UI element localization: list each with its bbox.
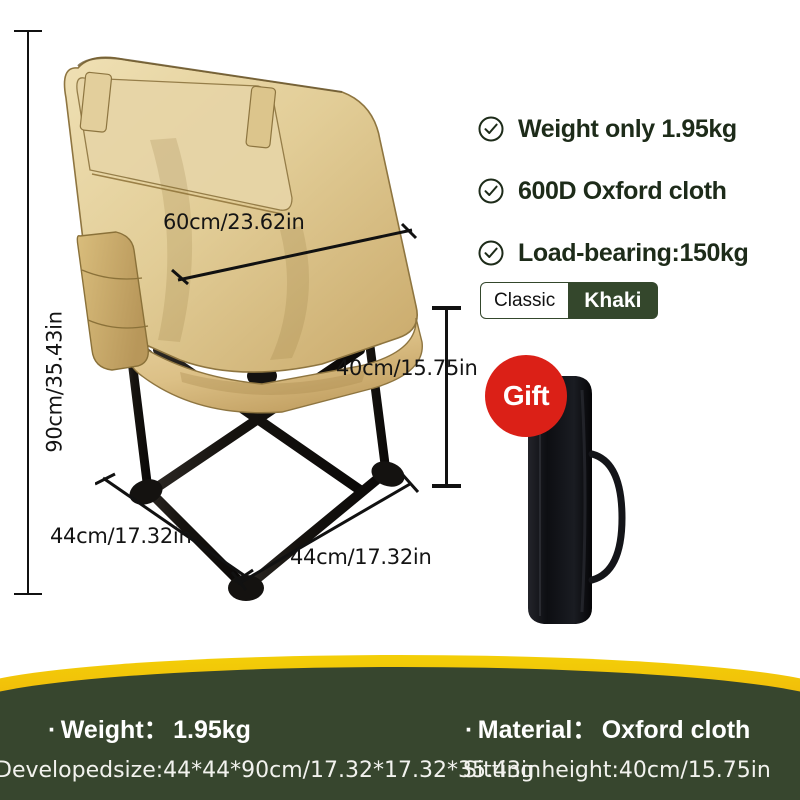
seat-height-label: 40cm/15.75in (336, 356, 477, 380)
info-cell-material: · Material： Oxford cloth (465, 710, 750, 746)
color-variant-badge[interactable]: Classic Khaki (481, 283, 657, 318)
info-weight-bullet: · (48, 716, 56, 744)
overall-height-label: 90cm/35.43in (43, 311, 67, 452)
check-circle-icon (478, 178, 504, 204)
headrest-strap-left (80, 72, 112, 132)
base-width-label: 44cm/17.32in (290, 545, 431, 569)
height-dimension-line (27, 30, 29, 595)
check-circle-icon (478, 240, 504, 266)
badge-color-name: Khaki (568, 283, 657, 318)
feature-list: Weight only 1.95kg 600D Oxford cloth Loa… (478, 98, 788, 284)
info-material-label: Material： (478, 716, 597, 744)
info-developed-size: Developedsize:44*44*90cm/17.32*17.32*35.… (0, 758, 541, 783)
gift-badge-label: Gift (503, 380, 549, 412)
seat-width-label: 60cm/23.62in (163, 210, 304, 234)
check-circle-icon (478, 116, 504, 142)
info-material-bullet: · (465, 716, 473, 744)
base-depth-label: 44cm/17.32in (50, 524, 191, 548)
product-spec-image: 90cm/35.43in 60cm/23.62in 40cm/15.75in 4… (0, 0, 800, 800)
product-illustration-area: 90cm/35.43in 60cm/23.62in 40cm/15.75in 4… (0, 0, 800, 660)
info-cell-weight: · Weight： 1.95kg (48, 710, 251, 746)
gift-badge: Gift (485, 355, 567, 437)
feature-row-weight: Weight only 1.95kg (478, 98, 788, 160)
feature-label-weight: Weight only 1.95kg (518, 115, 737, 144)
seat-height-dimension-line (445, 308, 448, 488)
info-weight-label: Weight： (61, 716, 169, 744)
gift-bag-group: Gift (470, 350, 670, 640)
feature-label-load: Load-bearing:150kg (518, 239, 748, 268)
seat-height-cap-bottom (432, 484, 461, 488)
feature-row-material: 600D Oxford cloth (478, 160, 788, 222)
feature-row-load: Load-bearing:150kg (478, 222, 788, 284)
info-sitting-height: Sitting height:40cm/15.75in (463, 758, 771, 783)
badge-series-label: Classic (481, 283, 568, 318)
height-dimension-cap-bottom (14, 593, 42, 595)
bottom-info-panel: · Weight： 1.95kg · Material： Oxford clot… (0, 655, 800, 800)
info-material-value: Oxford cloth (602, 716, 751, 744)
info-weight-value: 1.95kg (173, 716, 251, 744)
feature-label-material: 600D Oxford cloth (518, 177, 727, 206)
